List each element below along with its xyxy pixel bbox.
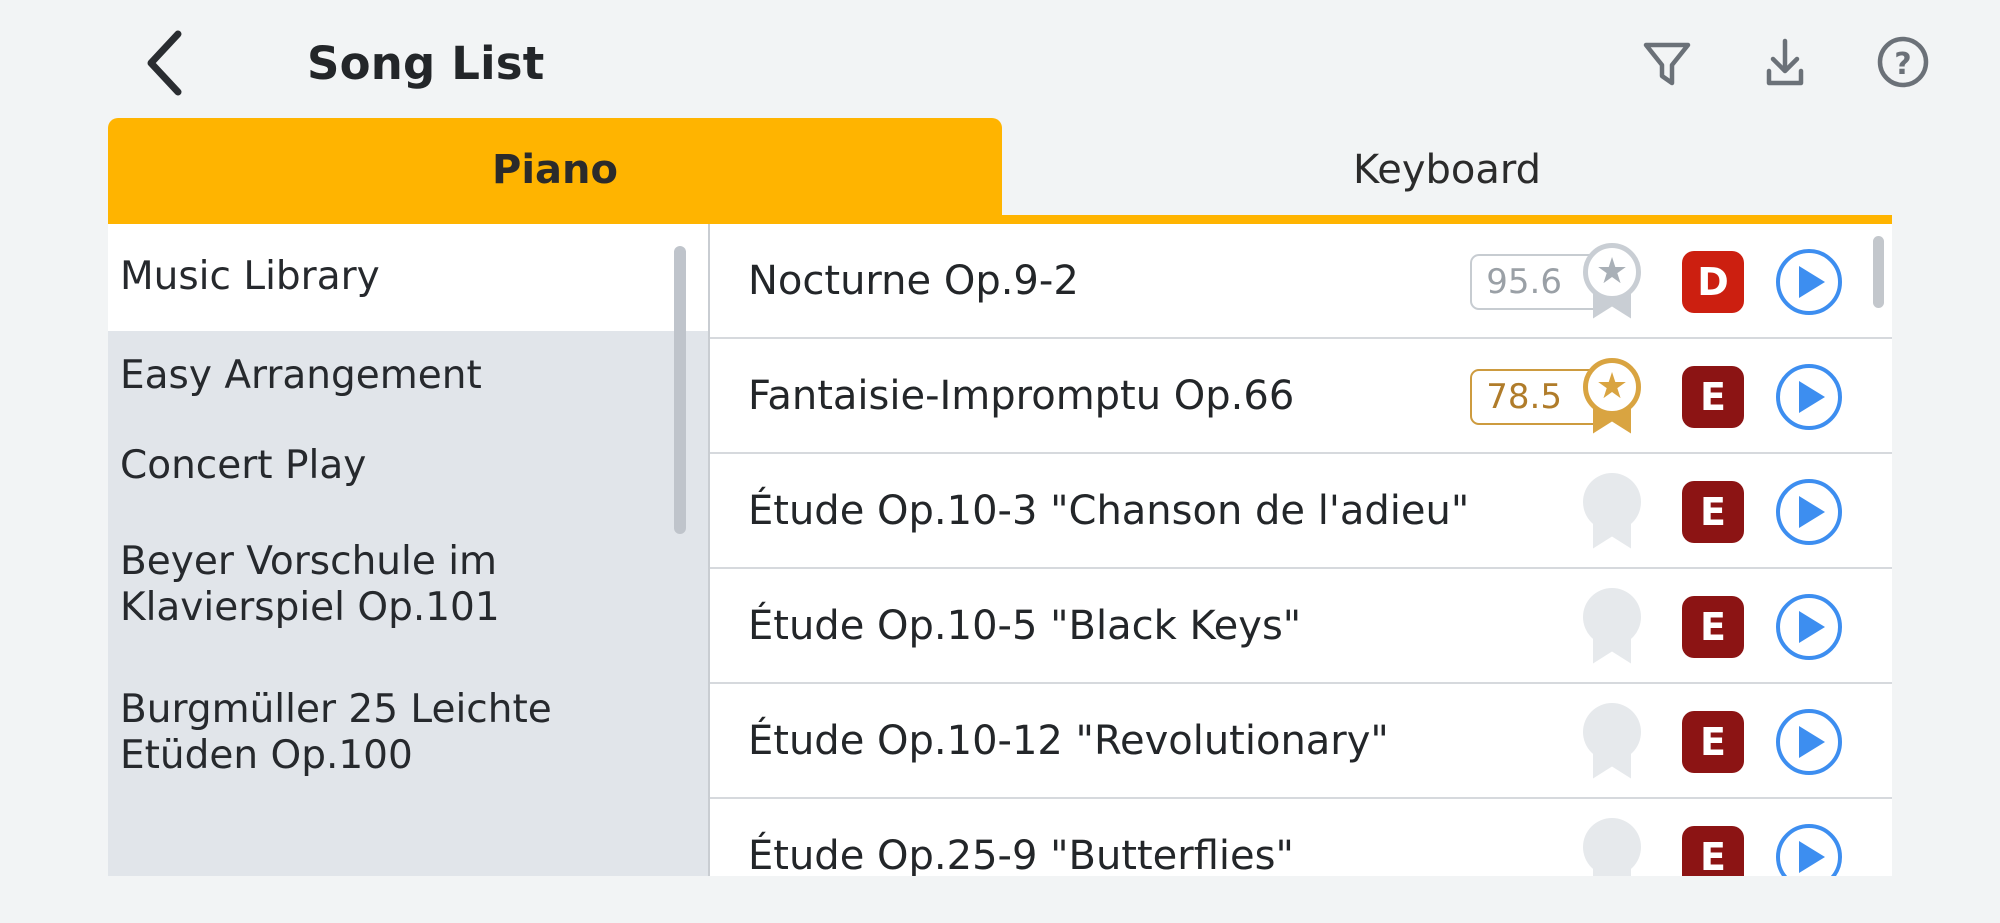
song-row[interactable]: Étude Op.25-9 "Butterflies" E: [710, 799, 1892, 876]
play-icon: [1799, 841, 1825, 873]
play-button[interactable]: [1776, 249, 1842, 315]
play-icon: [1799, 611, 1825, 643]
medal-icon: [1576, 818, 1648, 877]
sidebar-item-label: Beyer Vorschule im Klavierspiel Op.101: [120, 539, 708, 631]
difficulty-badge: E: [1682, 711, 1744, 773]
difficulty-badge: E: [1682, 826, 1744, 877]
play-button[interactable]: [1776, 709, 1842, 775]
song-list-scrollbar-thumb[interactable]: [1873, 236, 1884, 308]
chevron-left-icon: [142, 28, 188, 98]
song-title: Étude Op.10-5 "Black Keys": [748, 606, 1301, 646]
tab-piano[interactable]: Piano: [108, 118, 1002, 222]
medal-icon: ★: [1576, 243, 1648, 321]
score-badge: [1576, 481, 1648, 543]
song-title: Étude Op.10-3 "Chanson de l'adieu": [748, 491, 1469, 531]
category-sidebar: Music Library Easy Arrangement Concert P…: [108, 224, 708, 876]
song-row[interactable]: Étude Op.10-3 "Chanson de l'adieu" E: [710, 454, 1892, 569]
medal-icon: [1576, 588, 1648, 666]
sidebar-item-label: Concert Play: [120, 443, 426, 489]
tab-active-underline: [108, 215, 1892, 224]
song-title: Étude Op.25-9 "Butterflies": [748, 836, 1294, 876]
tab-keyboard-label: Keyboard: [1353, 147, 1541, 193]
song-row[interactable]: Fantaisie-Impromptu Op.66 78.5 ★ E: [710, 339, 1892, 454]
song-row-controls: 78.5 ★ E: [1470, 339, 1842, 454]
song-row-controls: E: [1576, 569, 1842, 684]
back-button[interactable]: [130, 28, 200, 98]
tab-bar: Piano Keyboard: [0, 118, 2000, 222]
song-row-controls: 95.6 ★ D: [1470, 224, 1842, 339]
difficulty-badge: E: [1682, 366, 1744, 428]
difficulty-badge: D: [1682, 251, 1744, 313]
score-badge: [1576, 711, 1648, 773]
star-glyph: ★: [1596, 369, 1628, 405]
sidebar-item-burgmuller[interactable]: Burgmüller 25 Leichte Etüden Op.100: [108, 659, 708, 807]
content-area: Music Library Easy Arrangement Concert P…: [108, 224, 1892, 876]
play-icon: [1799, 496, 1825, 528]
song-row-controls: E: [1576, 454, 1842, 569]
play-button[interactable]: [1776, 824, 1842, 877]
score-badge: [1576, 826, 1648, 877]
app-header: Song List ?: [0, 0, 2000, 124]
medal-icon: [1576, 703, 1648, 781]
play-icon: [1799, 726, 1825, 758]
medal-icon: [1576, 473, 1648, 551]
song-row-controls: E: [1576, 684, 1842, 799]
page-title: Song List: [307, 28, 544, 98]
play-icon: [1799, 381, 1825, 413]
song-title: Étude Op.10-12 "Revolutionary": [748, 721, 1389, 761]
song-list: Nocturne Op.9-2 95.6 ★ D Fantaisie-Impro…: [710, 224, 1892, 876]
play-button[interactable]: [1776, 364, 1842, 430]
sidebar-item-beyer[interactable]: Beyer Vorschule im Klavierspiel Op.101: [108, 511, 708, 659]
download-icon: [1756, 33, 1814, 91]
song-row[interactable]: Étude Op.10-12 "Revolutionary" E: [710, 684, 1892, 799]
header-actions: ?: [1636, 26, 1934, 98]
sidebar-item-label: Music Library: [120, 254, 440, 300]
sidebar-item-label: Burgmüller 25 Leichte Etüden Op.100: [120, 687, 708, 779]
sidebar-item-concert-play[interactable]: Concert Play: [108, 421, 708, 511]
song-title: Nocturne Op.9-2: [748, 261, 1079, 301]
medal-icon: ★: [1576, 358, 1648, 436]
song-row[interactable]: Étude Op.10-5 "Black Keys" E: [710, 569, 1892, 684]
filter-icon: [1638, 33, 1696, 91]
tab-piano-label: Piano: [492, 147, 618, 193]
sidebar-item-music-library[interactable]: Music Library: [108, 224, 708, 331]
sidebar-scrollbar-thumb[interactable]: [674, 246, 686, 534]
play-button[interactable]: [1776, 479, 1842, 545]
score-badge: 95.6 ★: [1470, 251, 1648, 313]
song-title: Fantaisie-Impromptu Op.66: [748, 376, 1294, 416]
score-badge: [1576, 596, 1648, 658]
filter-button[interactable]: [1636, 31, 1698, 93]
sidebar-item-label: Easy Arrangement: [120, 353, 542, 399]
tab-keyboard[interactable]: Keyboard: [1002, 118, 1892, 222]
difficulty-badge: E: [1682, 596, 1744, 658]
song-row-controls: E: [1576, 799, 1842, 876]
sidebar-item-easy-arrangement[interactable]: Easy Arrangement: [108, 331, 708, 421]
star-glyph: ★: [1596, 254, 1628, 290]
song-list-screen: Song List ?: [0, 0, 2000, 923]
play-button[interactable]: [1776, 594, 1842, 660]
svg-text:?: ?: [1894, 47, 1911, 82]
download-button[interactable]: [1754, 31, 1816, 93]
help-icon: ?: [1873, 32, 1933, 92]
play-icon: [1799, 266, 1825, 298]
song-row[interactable]: Nocturne Op.9-2 95.6 ★ D: [710, 224, 1892, 339]
help-button[interactable]: ?: [1872, 31, 1934, 93]
score-badge: 78.5 ★: [1470, 366, 1648, 428]
difficulty-badge: E: [1682, 481, 1744, 543]
